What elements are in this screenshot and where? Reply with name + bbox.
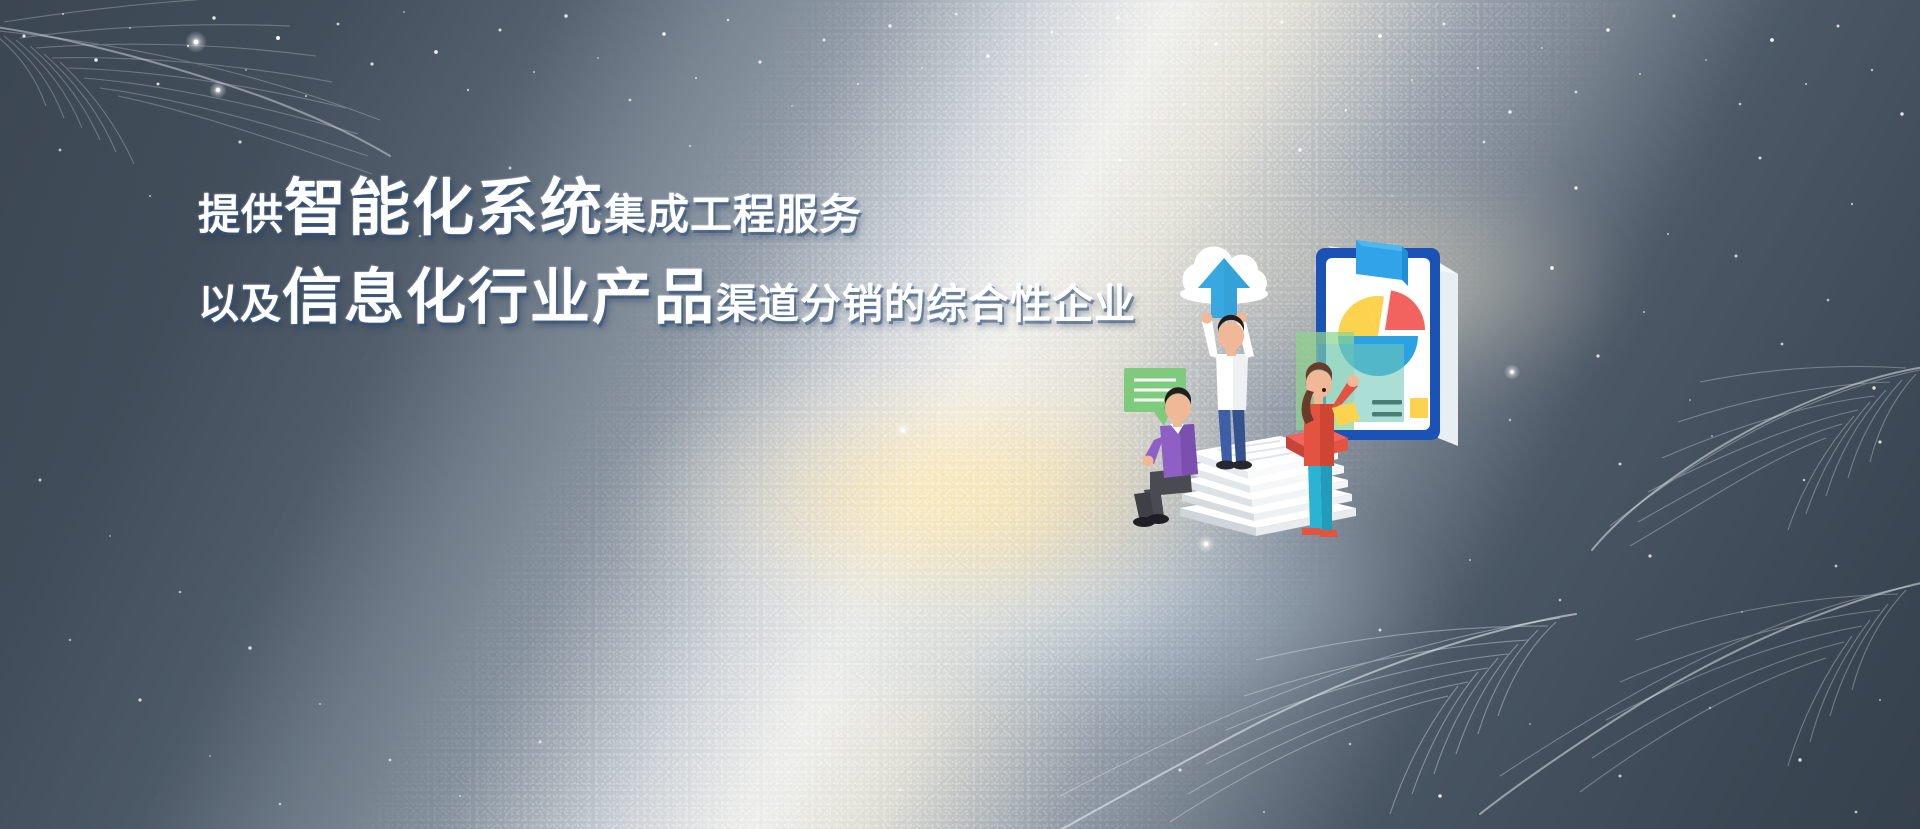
headline-line-1-emphasis: 智能化系统 — [284, 178, 604, 240]
headline-line-1: 提供智能化系统集成工程服务 — [198, 178, 1078, 240]
hero-banner: 提供智能化系统集成工程服务 以及信息化行业产品渠道分销的综合性企业 — [0, 0, 1920, 829]
headline-line-2-suffix: 渠道分销的综合性企业 — [716, 284, 1136, 325]
headline-line-2-prefix: 以及 — [198, 284, 282, 325]
headline-line-2-emphasis: 信息化行业产品 — [282, 268, 716, 328]
headline-line-2: 以及信息化行业产品渠道分销的综合性企业 — [198, 268, 1078, 328]
business-analytics-illustration — [1120, 240, 1480, 590]
headline: 提供智能化系统集成工程服务 以及信息化行业产品渠道分销的综合性企业 — [198, 178, 1078, 328]
background-starfield — [0, 0, 1920, 829]
headline-line-1-suffix: 集成工程服务 — [604, 194, 862, 236]
headline-line-1-prefix: 提供 — [198, 194, 284, 236]
